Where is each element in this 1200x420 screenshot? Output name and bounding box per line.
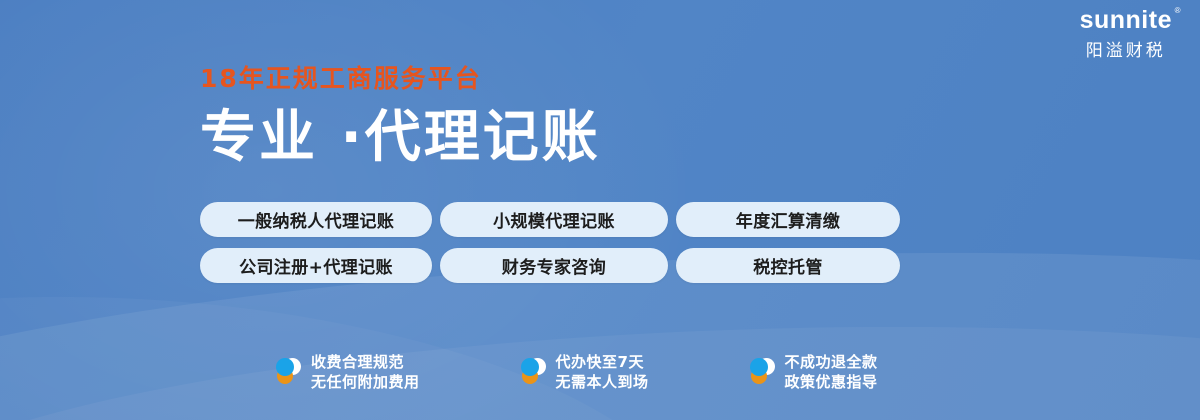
feature-item: 代办快至7天 无需本人到场 <box>520 352 649 393</box>
logo-wordmark-text: sunnite <box>1080 6 1172 34</box>
service-pill[interactable]: 财务专家咨询 <box>440 248 668 283</box>
feature-text: 不成功退全款 政策优惠指导 <box>785 352 878 393</box>
service-pill[interactable]: 税控托管 <box>676 248 900 283</box>
service-pill[interactable]: 一般纳税人代理记账 <box>200 202 432 237</box>
feature-line-2: 无需本人到场 <box>556 372 649 392</box>
half-moon-drop-icon <box>749 357 775 387</box>
dot-shape <box>521 358 539 376</box>
feature-line-1: 不成功退全款 <box>785 352 878 372</box>
service-pill[interactable]: 年度汇算清缴 <box>676 202 900 237</box>
hero-eyebrow: 18年正规工商服务平台 <box>200 66 601 91</box>
logo-chinese-name: 阳溢财税 <box>1080 42 1172 59</box>
feature-line-2: 无任何附加费用 <box>311 372 420 392</box>
service-pill-grid: 一般纳税人代理记账 小规模代理记账 年度汇算清缴 公司注册+代理记账 财务专家咨… <box>200 202 900 283</box>
background-band-3 <box>0 262 713 420</box>
feature-item: 不成功退全款 政策优惠指导 <box>749 352 878 393</box>
service-pill[interactable]: 小规模代理记账 <box>440 202 668 237</box>
service-pill[interactable]: 公司注册+代理记账 <box>200 248 432 283</box>
dot-shape <box>750 358 768 376</box>
feature-item: 收费合理规范 无任何附加费用 <box>275 352 420 393</box>
logo-wordmark: sunnite® <box>1080 8 1172 33</box>
half-moon-drop-icon <box>275 357 301 387</box>
feature-highlights-row: 收费合理规范 无任何附加费用 代办快至7天 无需本人到场 不成功退全款 <box>275 352 878 393</box>
feature-text: 收费合理规范 无任何附加费用 <box>311 352 420 393</box>
feature-text: 代办快至7天 无需本人到场 <box>556 352 649 393</box>
brand-logo[interactable]: sunnite® 阳溢财税 <box>1080 8 1172 59</box>
half-moon-drop-icon <box>520 357 546 387</box>
promo-banner: sunnite® 阳溢财税 18年正规工商服务平台 专业 ·代理记账 一般纳税人… <box>0 0 1200 420</box>
feature-line-2: 政策优惠指导 <box>785 372 878 392</box>
feature-line-1: 代办快至7天 <box>556 352 649 372</box>
hero-text-block: 18年正规工商服务平台 专业 ·代理记账 <box>200 66 601 170</box>
feature-line-1: 收费合理规范 <box>311 352 420 372</box>
registered-trademark-icon: ® <box>1175 7 1181 15</box>
hero-headline: 专业 ·代理记账 <box>200 107 601 170</box>
